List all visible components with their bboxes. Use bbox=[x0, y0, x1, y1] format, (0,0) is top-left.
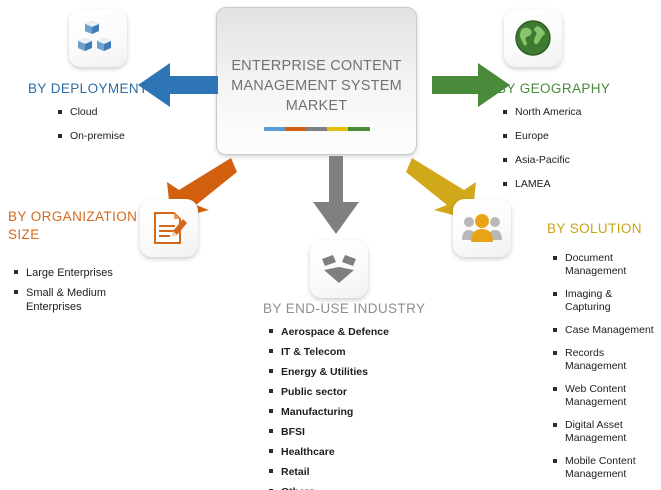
category-end-use-industry-title: BY END-USE INDUSTRY bbox=[263, 300, 438, 318]
list-item: Web Content Management bbox=[565, 383, 657, 409]
list-item: Large Enterprises bbox=[26, 266, 138, 280]
center-market-box: ENTERPRISE CONTENT MANAGEMENT SYSTEM MAR… bbox=[216, 7, 417, 155]
accent-bar-segment-green bbox=[348, 127, 369, 131]
document-pencil-icon-tile bbox=[140, 199, 198, 257]
list-item: Europe bbox=[515, 130, 647, 143]
accent-bar-segment-orange bbox=[285, 127, 306, 131]
people-icon bbox=[462, 213, 502, 243]
category-geography: BY GEOGRAPHY North America Europe Asia-P… bbox=[497, 80, 647, 202]
list-item: Case Management bbox=[565, 324, 657, 337]
list-item: Manufacturing bbox=[281, 406, 438, 419]
list-item: Healthcare bbox=[281, 446, 438, 459]
accent-bar-segment-yellow bbox=[327, 127, 348, 131]
category-geography-list: North America Europe Asia-Pacific LAMEA bbox=[497, 106, 647, 191]
list-item: Public sector bbox=[281, 386, 438, 399]
category-solution-list: Document Management Imaging & Capturing … bbox=[547, 252, 657, 490]
category-organization-size-list: Large Enterprises Small & Medium Enterpr… bbox=[8, 266, 138, 314]
cubes-icon bbox=[78, 19, 118, 57]
category-end-use-industry: BY END-USE INDUSTRY Aerospace & Defence … bbox=[263, 300, 438, 490]
document-pencil-icon bbox=[150, 209, 188, 247]
center-accent-bar bbox=[264, 127, 370, 131]
accent-bar-segment-blue bbox=[264, 127, 285, 131]
list-item: LAMEA bbox=[515, 178, 647, 191]
category-solution-title: BY SOLUTION bbox=[547, 220, 657, 238]
list-item: North America bbox=[515, 106, 647, 119]
list-item: Small & Medium Enterprises bbox=[26, 286, 138, 314]
layers-icon bbox=[320, 253, 358, 285]
category-geography-title: BY GEOGRAPHY bbox=[497, 80, 647, 98]
list-item: Records Management bbox=[565, 347, 657, 373]
people-icon-tile bbox=[453, 199, 511, 257]
list-item: Retail bbox=[281, 466, 438, 479]
list-item: Others bbox=[281, 486, 438, 490]
category-organization-size-title: BY ORGANIZATION SIZE bbox=[8, 208, 138, 244]
layers-icon-tile bbox=[310, 240, 368, 298]
list-item: Energy & Utilities bbox=[281, 366, 438, 379]
ecm-market-segmentation-diagram: ENTERPRISE CONTENT MANAGEMENT SYSTEM MAR… bbox=[0, 0, 661, 490]
list-item: Document Management bbox=[565, 252, 657, 278]
list-item: Mobile Content Management bbox=[565, 455, 657, 481]
list-item: Aerospace & Defence bbox=[281, 326, 438, 339]
list-item: BFSI bbox=[281, 426, 438, 439]
category-organization-size: BY ORGANIZATION SIZE Large Enterprises S… bbox=[8, 208, 138, 320]
center-market-title: ENTERPRISE CONTENT MANAGEMENT SYSTEM MAR… bbox=[229, 56, 404, 116]
list-item: Digital Asset Management bbox=[565, 419, 657, 445]
cubes-icon-tile bbox=[69, 9, 127, 67]
arrow-down-gray bbox=[313, 156, 359, 234]
category-deployment-list: Cloud On-premise bbox=[52, 106, 198, 143]
list-item: Cloud bbox=[70, 106, 198, 119]
category-deployment-title: BY DEPLOYMENT bbox=[28, 80, 198, 98]
accent-bar-segment-gray bbox=[306, 127, 327, 131]
list-item: On-premise bbox=[70, 130, 198, 143]
category-deployment: BY DEPLOYMENT Cloud On-premise bbox=[28, 80, 198, 154]
list-item: IT & Telecom bbox=[281, 346, 438, 359]
category-end-use-industry-list: Aerospace & Defence IT & Telecom Energy … bbox=[263, 326, 438, 490]
list-item: Imaging & Capturing bbox=[565, 288, 657, 314]
globe-icon bbox=[513, 18, 553, 58]
category-solution: BY SOLUTION Document Management Imaging … bbox=[547, 220, 657, 490]
list-item: Asia-Pacific bbox=[515, 154, 647, 167]
globe-icon-tile bbox=[504, 9, 562, 67]
